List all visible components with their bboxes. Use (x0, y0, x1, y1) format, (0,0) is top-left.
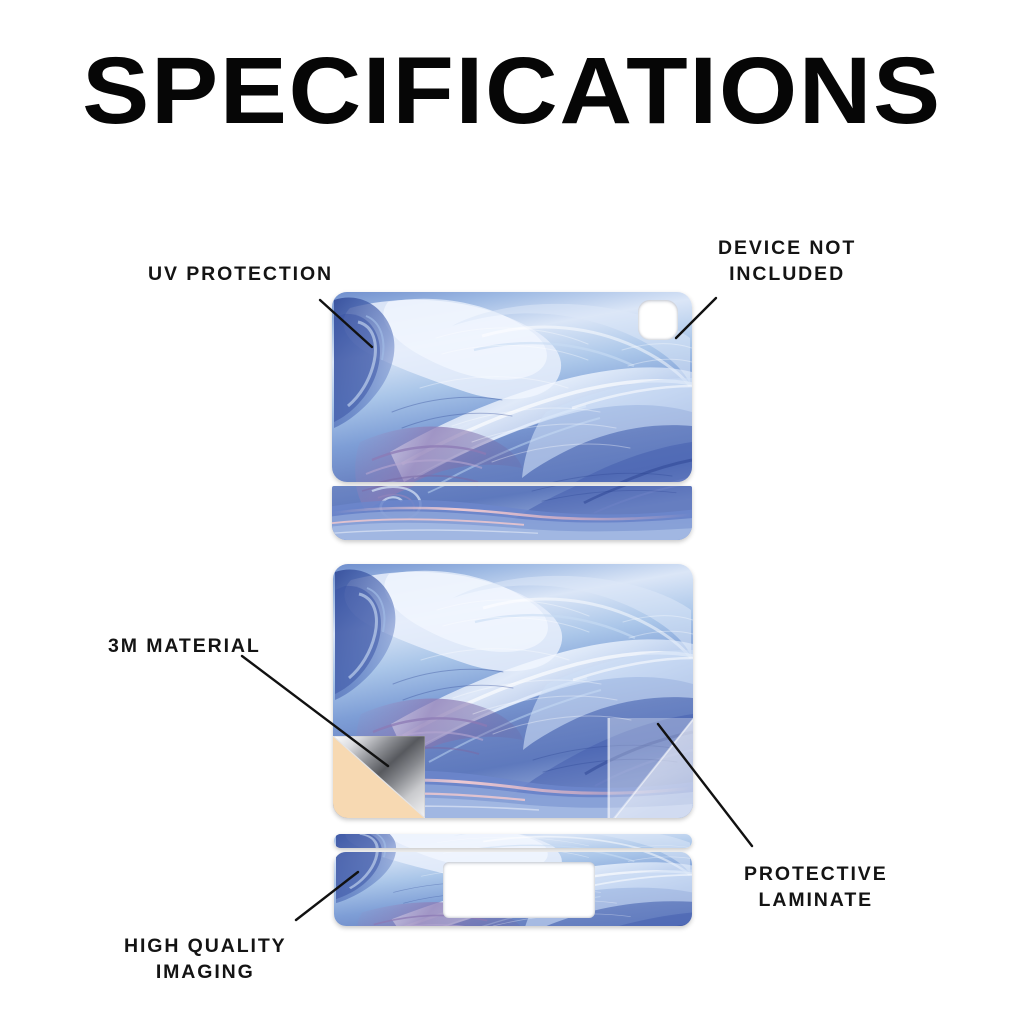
callout-3m-material: 3M MATERIAL (108, 634, 261, 660)
callout-device-not-included: DEVICE NOT INCLUDED (718, 236, 856, 287)
peel-corner (333, 736, 425, 818)
skin-artwork (334, 834, 692, 848)
page-title: SPECIFICATIONS (0, 44, 1024, 139)
callout-high-quality-imaging: HIGH QUALITY IMAGING (124, 934, 287, 985)
callout-uv-protection: UV PROTECTION (148, 262, 333, 288)
skin-artwork (332, 486, 692, 540)
callout-protective-laminate: PROTECTIVE LAMINATE (744, 862, 888, 913)
tablet-back-strip (332, 486, 692, 540)
keyboard-panel (334, 852, 692, 926)
keyboard-cutout (443, 862, 595, 918)
laminate-overlay (607, 718, 693, 818)
camera-cutout (638, 300, 678, 340)
tablet-front-panel (333, 564, 693, 818)
tablet-back-panel (332, 292, 692, 482)
specifications-page: SPECIFICATIONS (0, 0, 1024, 1024)
keyboard-strip-top (334, 834, 692, 848)
